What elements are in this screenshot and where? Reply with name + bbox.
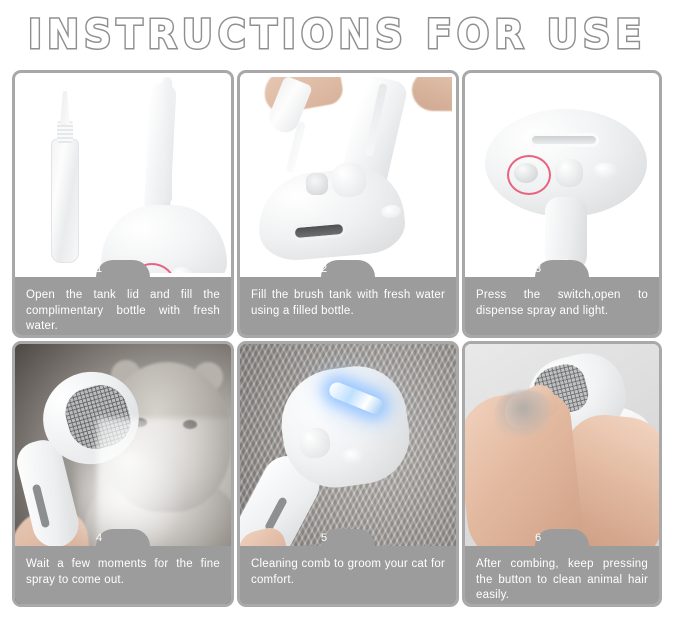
step-1-badge: 1 <box>96 260 150 277</box>
step-2-caption: 2 Fill the brush tank with fresh water u… <box>240 277 456 335</box>
step-4-badge: 4 <box>96 529 150 546</box>
step-4-caption-text: Wait a few moments for the fine spray to… <box>26 558 220 586</box>
collected-animal-hair <box>495 390 551 436</box>
instruction-steps-grid: 1 Open the tank lid and fill the complim… <box>12 70 663 607</box>
step-6-badge: 6 <box>535 529 589 546</box>
step-3-photo <box>469 77 655 273</box>
step-3-caption: 3 Press the switch,open to dispense spra… <box>465 277 659 335</box>
device-side-button <box>593 163 617 179</box>
step-panel-2: 2 Fill the brush tank with fresh water u… <box>237 70 459 338</box>
step-6-caption: 6 After combing, keep pressing the butto… <box>465 546 659 604</box>
highlight-circle-icon <box>507 155 551 195</box>
step-panel-1: 1 Open the tank lid and fill the complim… <box>12 70 234 338</box>
step-2-badge: 2 <box>321 260 375 277</box>
step-panel-4: 4 Wait a few moments for the fine spray … <box>12 341 234 607</box>
step-panel-5: 5 Cleaning comb to groom your cat for co… <box>237 341 459 607</box>
step-2-caption-text: Fill the brush tank with fresh water usi… <box>251 289 445 317</box>
step-6-caption-text: After combing, keep pressing the button … <box>476 558 648 601</box>
page-header: INSTRUCTIONS FOR USE <box>0 0 675 70</box>
hand-holding-device <box>412 77 452 111</box>
step-1-caption: 1 Open the tank lid and fill the complim… <box>15 277 231 335</box>
step-5-caption-text: Cleaning comb to groom your cat for comf… <box>251 558 445 586</box>
step-3-caption-text: Press the switch,open to dispense spray … <box>476 289 648 317</box>
device-water-window <box>529 133 599 147</box>
complimentary-bottle-tip <box>60 91 70 125</box>
step-1-photo <box>19 77 227 273</box>
step-4-caption: 4 Wait a few moments for the fine spray … <box>15 546 231 604</box>
step-panel-6: 6 After combing, keep pressing the butto… <box>462 341 662 607</box>
device-fill-port <box>306 173 328 195</box>
device-knob <box>555 159 583 187</box>
step-3-badge: 3 <box>535 260 589 277</box>
step-5-caption: 5 Cleaning comb to groom your cat for co… <box>240 546 456 604</box>
step-5-badge: 5 <box>321 529 375 546</box>
step-1-caption-text: Open the tank lid and fill the complimen… <box>26 289 220 332</box>
step-2-photo <box>244 77 452 273</box>
complimentary-bottle-body <box>51 139 79 263</box>
page-title: INSTRUCTIONS FOR USE <box>28 12 646 58</box>
device-stem-slot <box>162 77 172 203</box>
step-panel-3: 3 Press the switch,open to dispense spra… <box>462 70 662 338</box>
